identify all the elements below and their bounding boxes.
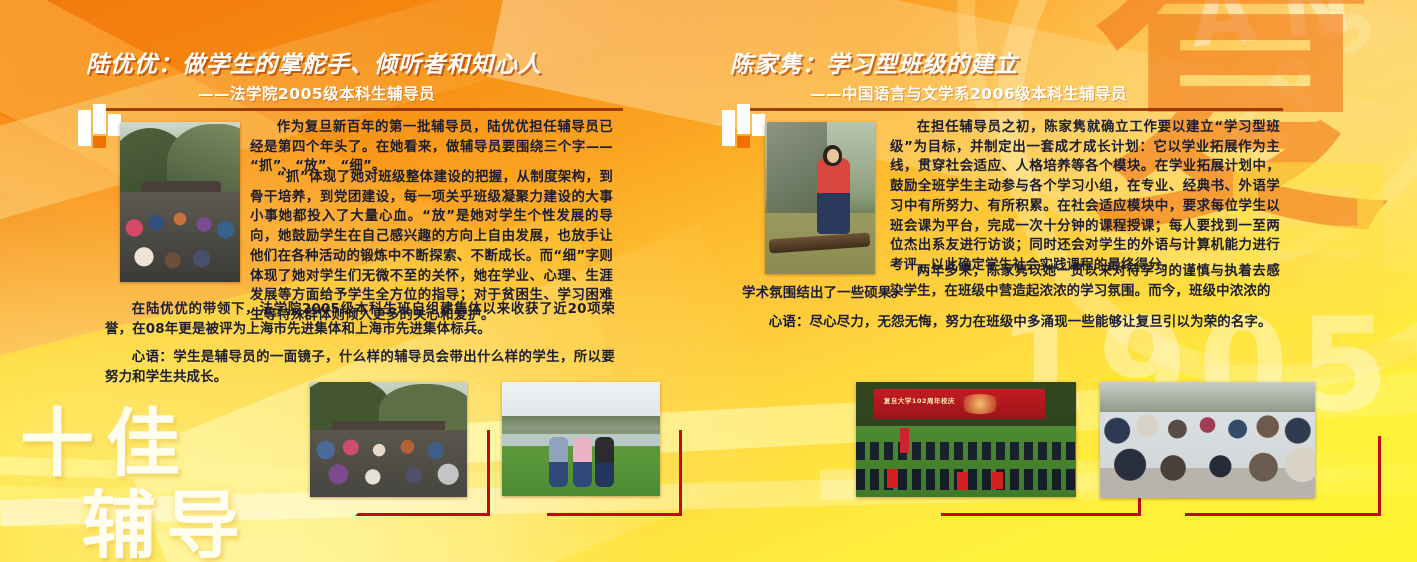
subline-right: ——中国语言与文学系2006级本科生辅导员	[810, 82, 1127, 104]
photo-portrait-left	[120, 122, 240, 282]
photo-bottom-1	[310, 382, 467, 497]
body-right-para2-head: 两年多来，陈家隽以她一贯以来对待学习的谨慎与执着去感染学生，在班级中营造起浓浓的…	[890, 262, 1280, 301]
calligraphy-fu-dao-yuan: 辅导员	[82, 466, 294, 562]
calligraphy-block: 十佳 辅导员	[14, 378, 294, 558]
xinyu-label-left: 心语：	[132, 350, 173, 365]
divider-right	[750, 108, 1283, 111]
photo-banner: 复旦大学102周年校庆	[874, 389, 1046, 419]
photo-bottom-2	[502, 382, 660, 496]
xinyu-text-right: 尽心尽力，无怨无悔，努力在班级中多涌现一些能够让复旦引以为荣的名字。	[810, 315, 1272, 330]
xinyu-label-right: 心语：	[769, 315, 810, 330]
headline-right: 陈家隽：学习型班级的建立	[730, 45, 1018, 79]
subline-left: ——法学院2005级本科生辅导员	[198, 82, 435, 104]
steps-ornament-icon-right	[722, 104, 766, 150]
body-left-part3: 在陆优优的带领下，法学院2005级本科生班自组建集体以来收获了近20项荣誉，在0…	[105, 300, 615, 388]
xinyu-text-left: 学生是辅导员的一面镜子，什么样的辅导员会带出什么样的学生，所以要努力和学生共成长…	[105, 350, 615, 385]
paragraph-left-3: 在陆优优的带领下，法学院2005级本科生班自组建集体以来收获了近20项荣誉，在0…	[105, 300, 615, 339]
body-right-part1: 在担任辅导员之初，陈家隽就确立工作要以建立“学习型班级”为目标，并制定出一套成才…	[890, 118, 1280, 276]
divider-left	[106, 108, 623, 111]
photo-portrait-right	[765, 122, 875, 274]
photo-bottom-3: 复旦大学102周年校庆	[856, 382, 1076, 497]
paragraph-right-2-lead: 两年多来，陈家隽以她一贯以来对待学习的谨慎与执着去感染学生，在班级中营造起浓浓的…	[890, 262, 1280, 301]
steps-ornament-icon	[78, 104, 122, 150]
poster-canvas: AN ERS 复 旦 1905 十佳 辅导员 陆优优：做学生的掌舵手、倾听者和知…	[0, 0, 1417, 562]
paragraph-right-xinyu: 心语：尽心尽力，无怨无悔，努力在班级中多涌现一些能够让复旦引以为荣的名字。	[742, 313, 1280, 333]
paragraph-right-1: 在担任辅导员之初，陈家隽就确立工作要以建立“学习型班级”为目标，并制定出一套成才…	[890, 118, 1280, 276]
photo-banner-text: 复旦大学102周年校庆	[884, 395, 955, 405]
headline-left: 陆优优：做学生的掌舵手、倾听者和知心人	[86, 45, 542, 79]
photo-bottom-4	[1100, 382, 1315, 498]
